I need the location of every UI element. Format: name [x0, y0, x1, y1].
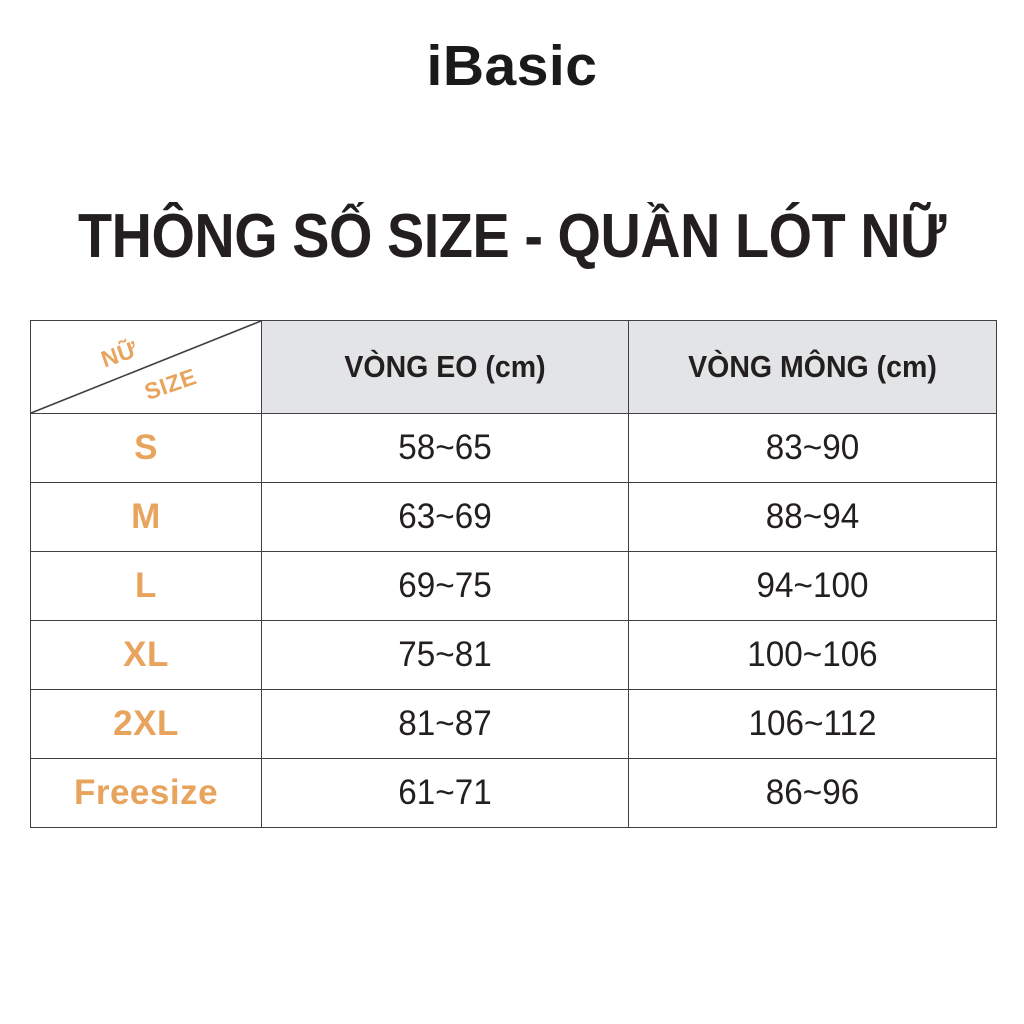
- cell-size: XL: [31, 621, 262, 690]
- cell-waist-text: 69~75: [271, 566, 619, 606]
- table-row: S 58~65 83~90: [31, 414, 997, 483]
- table-row: XL 75~81 100~106: [31, 621, 997, 690]
- brand-logo: iBasic: [0, 38, 1024, 95]
- cell-hip-text: 100~106: [638, 635, 987, 675]
- table-header: NỮ SIZE VÒNG EO (cm) VÒNG MÔNG (cm): [31, 321, 997, 414]
- cell-hip-text: 94~100: [638, 566, 987, 606]
- cell-waist-text: 81~87: [271, 704, 619, 744]
- cell-waist-text: 61~71: [271, 773, 619, 813]
- cell-hip: 94~100: [629, 552, 997, 621]
- table-row: M 63~69 88~94: [31, 483, 997, 552]
- cell-hip-text: 86~96: [638, 773, 987, 813]
- size-chart-container: NỮ SIZE VÒNG EO (cm) VÒNG MÔNG (cm) S 58…: [30, 320, 996, 823]
- corner-header-cell: NỮ SIZE: [31, 321, 262, 414]
- cell-size: M: [31, 483, 262, 552]
- cell-hip-text: 83~90: [638, 428, 987, 468]
- cell-hip: 86~96: [629, 759, 997, 828]
- size-chart-table: NỮ SIZE VÒNG EO (cm) VÒNG MÔNG (cm) S 58…: [30, 320, 997, 828]
- cell-waist: 61~71: [262, 759, 629, 828]
- cell-size: L: [31, 552, 262, 621]
- table-header-row: NỮ SIZE VÒNG EO (cm) VÒNG MÔNG (cm): [31, 321, 997, 414]
- cell-hip: 83~90: [629, 414, 997, 483]
- cell-hip-text: 106~112: [638, 704, 987, 744]
- cell-waist: 63~69: [262, 483, 629, 552]
- cell-hip-text: 88~94: [638, 497, 987, 537]
- diagonal-divider-icon: [31, 321, 261, 413]
- cell-hip: 106~112: [629, 690, 997, 759]
- cell-waist: 58~65: [262, 414, 629, 483]
- table-row: 2XL 81~87 106~112: [31, 690, 997, 759]
- table-body: S 58~65 83~90 M 63~69 88~94 L 69~75 94~1…: [31, 414, 997, 828]
- cell-waist-text: 75~81: [271, 635, 619, 675]
- cell-hip: 100~106: [629, 621, 997, 690]
- column-header-hip: VÒNG MÔNG (cm): [629, 321, 997, 414]
- cell-waist-text: 58~65: [271, 428, 619, 468]
- cell-size: Freesize: [31, 759, 262, 828]
- cell-waist: 69~75: [262, 552, 629, 621]
- cell-size: S: [31, 414, 262, 483]
- column-header-hip-text: VÒNG MÔNG (cm): [644, 349, 982, 385]
- cell-waist: 75~81: [262, 621, 629, 690]
- cell-hip: 88~94: [629, 483, 997, 552]
- table-row: Freesize 61~71 86~96: [31, 759, 997, 828]
- cell-waist-text: 63~69: [271, 497, 619, 537]
- cell-waist: 81~87: [262, 690, 629, 759]
- column-header-waist: VÒNG EO (cm): [262, 321, 629, 414]
- page-title: THÔNG SỐ SIZE - QUẦN LÓT NỮ: [51, 206, 973, 268]
- column-header-waist-text: VÒNG EO (cm): [277, 349, 614, 385]
- table-row: L 69~75 94~100: [31, 552, 997, 621]
- cell-size: 2XL: [31, 690, 262, 759]
